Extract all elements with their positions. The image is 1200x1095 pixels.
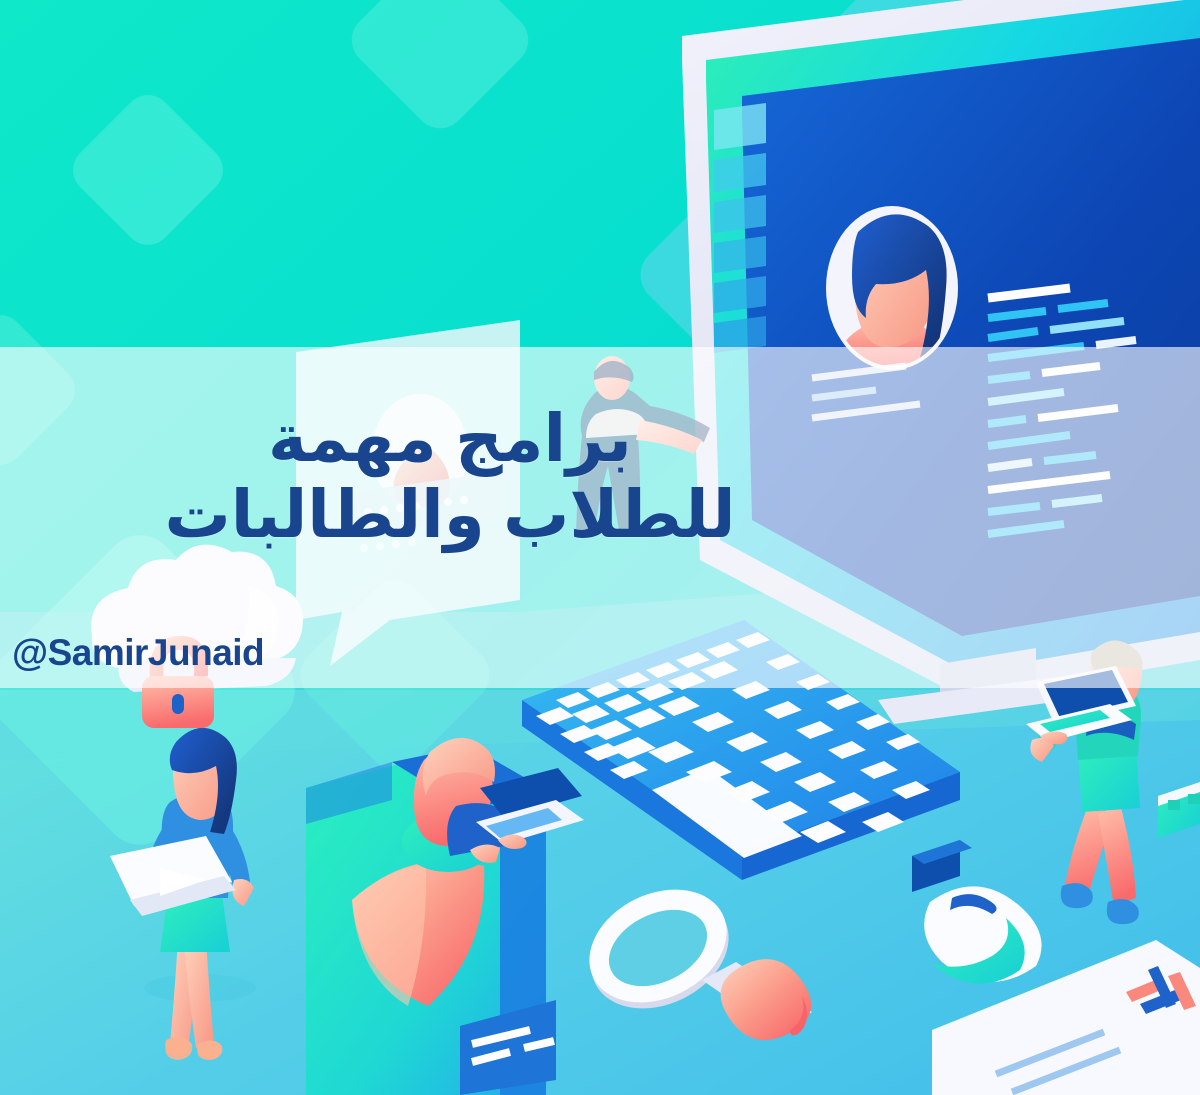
page-title: برامج مهمة للطلاب والطالبات <box>0 400 900 554</box>
author-handle: @SamirJunaid <box>12 632 264 674</box>
headline-line-1: برامج مهمة <box>0 400 900 478</box>
headline-line-2: للطلاب والطالبات <box>0 476 900 554</box>
teal-panel <box>306 738 584 1095</box>
poster-canvas: برامج مهمة للطلاب والطالبات @SamirJunaid <box>0 0 1200 1095</box>
